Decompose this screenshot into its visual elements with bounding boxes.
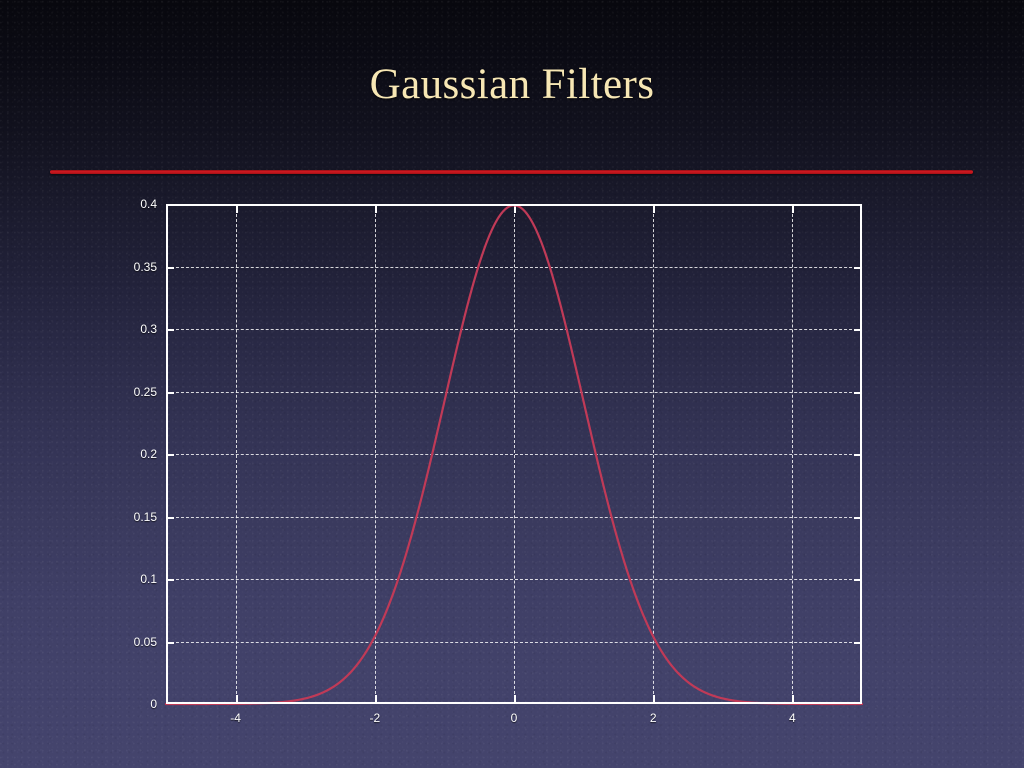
x-tick-label: 0: [511, 711, 518, 725]
y-tick-label: 0.2: [140, 447, 157, 461]
x-tick-label: 4: [789, 711, 796, 725]
y-tick-label: 0.25: [134, 385, 157, 399]
x-tick-label: -4: [230, 711, 241, 725]
slide: Gaussian Filters 00.050.10.150.20.250.30…: [0, 0, 1024, 768]
gaussian-plot: 00.050.10.150.20.250.30.350.4 -4-2024: [166, 204, 862, 704]
y-tick-label: 0.15: [134, 510, 157, 524]
y-tick-label: 0.05: [134, 635, 157, 649]
page-title: Gaussian Filters: [0, 63, 1024, 106]
plot-frame: [166, 204, 862, 704]
y-tick-label: 0.3: [140, 322, 157, 336]
y-tick-label: 0.4: [140, 197, 157, 211]
y-tick-label: 0.35: [134, 260, 157, 274]
x-tick-label: -2: [369, 711, 380, 725]
x-tick-label: 2: [650, 711, 657, 725]
y-tick-label: 0: [150, 697, 157, 711]
y-tick-label: 0.1: [140, 572, 157, 586]
title-divider-rule: [50, 170, 973, 174]
